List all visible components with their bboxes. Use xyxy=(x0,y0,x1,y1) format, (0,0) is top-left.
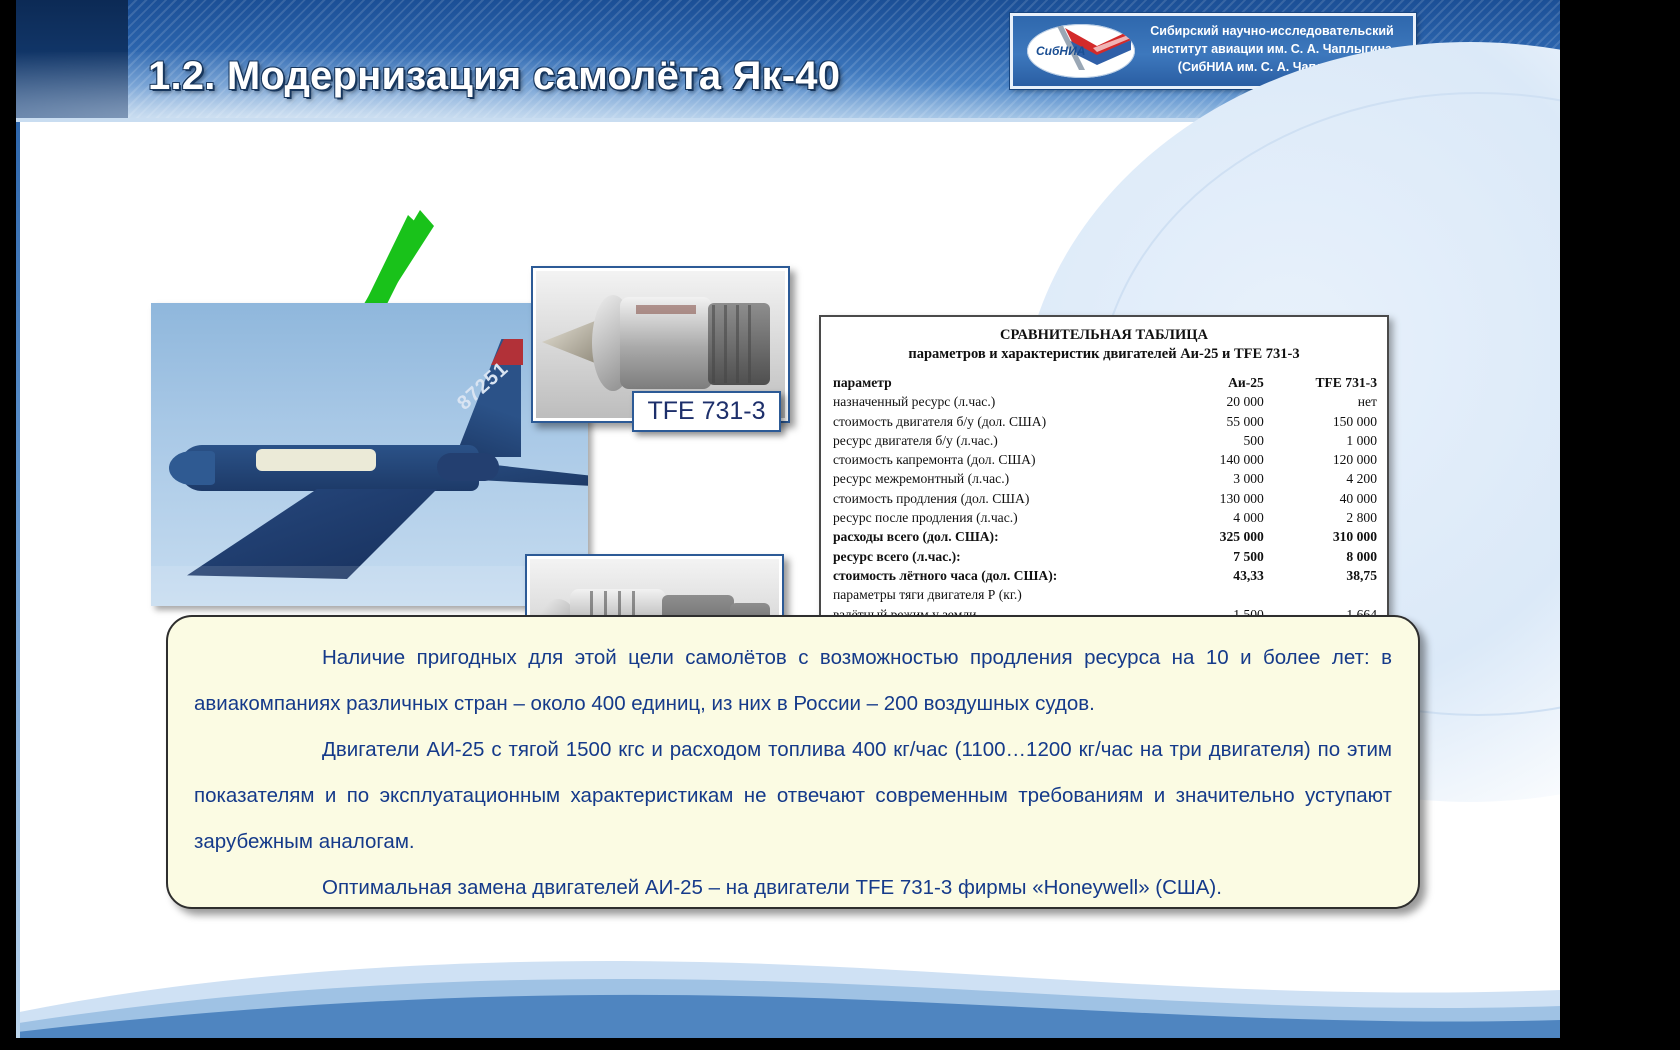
table-row: расходы всего (дол. США):325 000310 000 xyxy=(821,528,1387,547)
table-row: стоимость капремонта (дол. США)140 00012… xyxy=(821,451,1387,470)
table-cell-param: ресурс двигателя б/у (л.час.) xyxy=(821,432,1160,451)
table-cell-ai25: 20 000 xyxy=(1160,393,1278,412)
table-row: параметры тяги двигателя Р (кг.) xyxy=(821,586,1387,605)
callout-paragraph-3-text: Оптимальная замена двигателей АИ-25 – на… xyxy=(322,876,1222,899)
summary-callout-box: Наличие пригодных для этой цели самолёто… xyxy=(166,615,1420,909)
table-cell-param: стоимость лётного часа (дол. США): xyxy=(821,567,1160,586)
aircraft-engine-nacelle xyxy=(437,453,499,481)
callout-paragraph-3: Оптимальная замена двигателей АИ-25 – на… xyxy=(168,865,1418,911)
letterbox-right xyxy=(1560,0,1680,1050)
table-cell-tfe731: 4 200 xyxy=(1278,470,1387,489)
table-header-row: параметрАи-25TFE 731-3 xyxy=(821,374,1387,393)
engine-wiring-detail xyxy=(636,305,696,314)
table-cell-ai25: 500 xyxy=(1160,432,1278,451)
table-cell-param: ресурс после продления (л.час.) xyxy=(821,509,1160,528)
table-cell-param: ресурс всего (л.час.): xyxy=(821,548,1160,567)
callout-paragraph-2-text: Двигатели АИ-25 с тягой 1500 кгс и расхо… xyxy=(194,738,1392,853)
engine-detail-line xyxy=(712,305,715,383)
table-cell-tfe731: 8 000 xyxy=(1278,548,1387,567)
table-row: стоимость двигателя б/у (дол. США)55 000… xyxy=(821,413,1387,432)
photo-sky-gradient xyxy=(151,566,588,606)
callout-paragraph-1-text: Наличие пригодных для этой цели самолёто… xyxy=(194,646,1392,715)
table-cell-param: параметры тяги двигателя Р (кг.) xyxy=(821,586,1160,605)
table-row: назначенный ресурс (л.час.)20 000нет xyxy=(821,393,1387,412)
table-title-line-2: параметров и характеристик двигателей Аи… xyxy=(821,345,1387,364)
table-cell-ai25 xyxy=(1160,586,1278,605)
aircraft-livery-stripe xyxy=(256,449,376,471)
table-row: ресурс всего (л.час.):7 5008 000 xyxy=(821,548,1387,567)
letterbox-bottom xyxy=(0,1038,1680,1050)
table-header-param: параметр xyxy=(821,374,1160,393)
table-cell-tfe731: 2 800 xyxy=(1278,509,1387,528)
table-cell-param: стоимость капремонта (дол. США) xyxy=(821,451,1160,470)
callout-paragraph-2: Двигатели АИ-25 с тягой 1500 кгс и расхо… xyxy=(168,727,1418,865)
aircraft-nose xyxy=(169,451,215,485)
table-cell-param: стоимость продления (дол. США) xyxy=(821,490,1160,509)
engine-turbine-section xyxy=(708,303,770,385)
table-cell-ai25: 325 000 xyxy=(1160,528,1278,547)
table-title-line-1: СРАВНИТЕЛЬНАЯ ТАБЛИЦА xyxy=(821,326,1387,345)
table-cell-ai25: 140 000 xyxy=(1160,451,1278,470)
table-cell-ai25: 130 000 xyxy=(1160,490,1278,509)
presentation-slide: 1.2. Модернизация самолёта Як-40 СибНИА … xyxy=(0,0,1680,1050)
table-cell-tfe731: 150 000 xyxy=(1278,413,1387,432)
table-cell-tfe731: 310 000 xyxy=(1278,528,1387,547)
letterbox-left xyxy=(0,0,16,1050)
table-cell-param: назначенный ресурс (л.час.) xyxy=(821,393,1160,412)
table-cell-tfe731: 1 000 xyxy=(1278,432,1387,451)
table-cell-param: стоимость двигателя б/у (дол. США) xyxy=(821,413,1160,432)
table-row: стоимость лётного часа (дол. США):43,333… xyxy=(821,567,1387,586)
engine-detail-line xyxy=(736,305,739,383)
page-title: 1.2. Модернизация самолёта Як-40 xyxy=(148,54,840,99)
table-cell-ai25: 55 000 xyxy=(1160,413,1278,432)
org-name-line-1: Сибирский научно-исследовательский xyxy=(1141,22,1403,40)
sibnia-wordmark: СибНИА xyxy=(1036,44,1085,58)
engine-detail-line xyxy=(724,305,727,383)
table-cell-ai25: 7 500 xyxy=(1160,548,1278,567)
table-row: ресурс межремонтный (л.час.)3 0004 200 xyxy=(821,470,1387,489)
comparison-table-title: СРАВНИТЕЛЬНАЯ ТАБЛИЦА параметров и харак… xyxy=(821,326,1387,364)
table-cell-tfe731: 38,75 xyxy=(1278,567,1387,586)
callout-paragraph-1: Наличие пригодных для этой цели самолёто… xyxy=(168,617,1418,727)
table-row: ресурс после продления (л.час.)4 0002 80… xyxy=(821,509,1387,528)
table-cell-tfe731 xyxy=(1278,586,1387,605)
table-cell-tfe731: 120 000 xyxy=(1278,451,1387,470)
table-cell-ai25: 43,33 xyxy=(1160,567,1278,586)
table-row: ресурс двигателя б/у (л.час.)5001 000 xyxy=(821,432,1387,451)
aircraft-photo: 87251 xyxy=(151,303,588,606)
sibnia-emblem-icon: СибНИА xyxy=(1027,24,1135,78)
table-header-ai25: Аи-25 xyxy=(1160,374,1278,393)
table-cell-tfe731: 40 000 xyxy=(1278,490,1387,509)
table-header-tfe731: TFE 731-3 xyxy=(1278,374,1387,393)
footer-wave-decoration xyxy=(0,920,1560,1038)
engine-detail-line xyxy=(748,305,751,383)
table-cell-param: расходы всего (дол. США): xyxy=(821,528,1160,547)
table-cell-param: ресурс межремонтный (л.час.) xyxy=(821,470,1160,489)
table-row: стоимость продления (дол. США)130 00040 … xyxy=(821,490,1387,509)
table-cell-tfe731: нет xyxy=(1278,393,1387,412)
table-cell-ai25: 4 000 xyxy=(1160,509,1278,528)
table-cell-ai25: 3 000 xyxy=(1160,470,1278,489)
engine-label-tfe731: TFE 731-3 xyxy=(632,391,781,432)
